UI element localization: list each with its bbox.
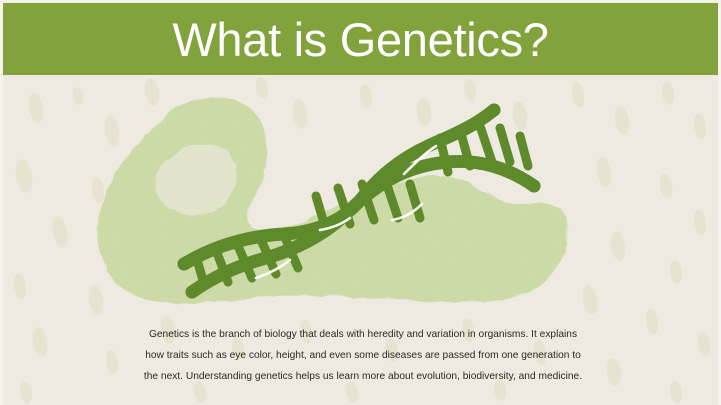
body-paragraph: Genetics is the branch of biology that d…: [118, 324, 608, 387]
page-title: What is Genetics?: [0, 3, 721, 75]
dna-illustration: [0, 78, 721, 318]
dna-cap-bottom-left: [178, 258, 191, 271]
body-line-1: Genetics is the branch of biology that d…: [118, 324, 608, 345]
body-line-3: the next. Understanding genetics helps u…: [118, 366, 608, 387]
body-line-2: how traits such as eye color, height, an…: [118, 345, 608, 366]
slide: What is Genetics?: [0, 0, 721, 405]
slide-edge-top: [0, 0, 721, 3]
dna-cap-right: [528, 180, 541, 193]
dna-cap-bottom-left-2: [186, 286, 199, 299]
dna-cap-top-right: [488, 104, 501, 117]
